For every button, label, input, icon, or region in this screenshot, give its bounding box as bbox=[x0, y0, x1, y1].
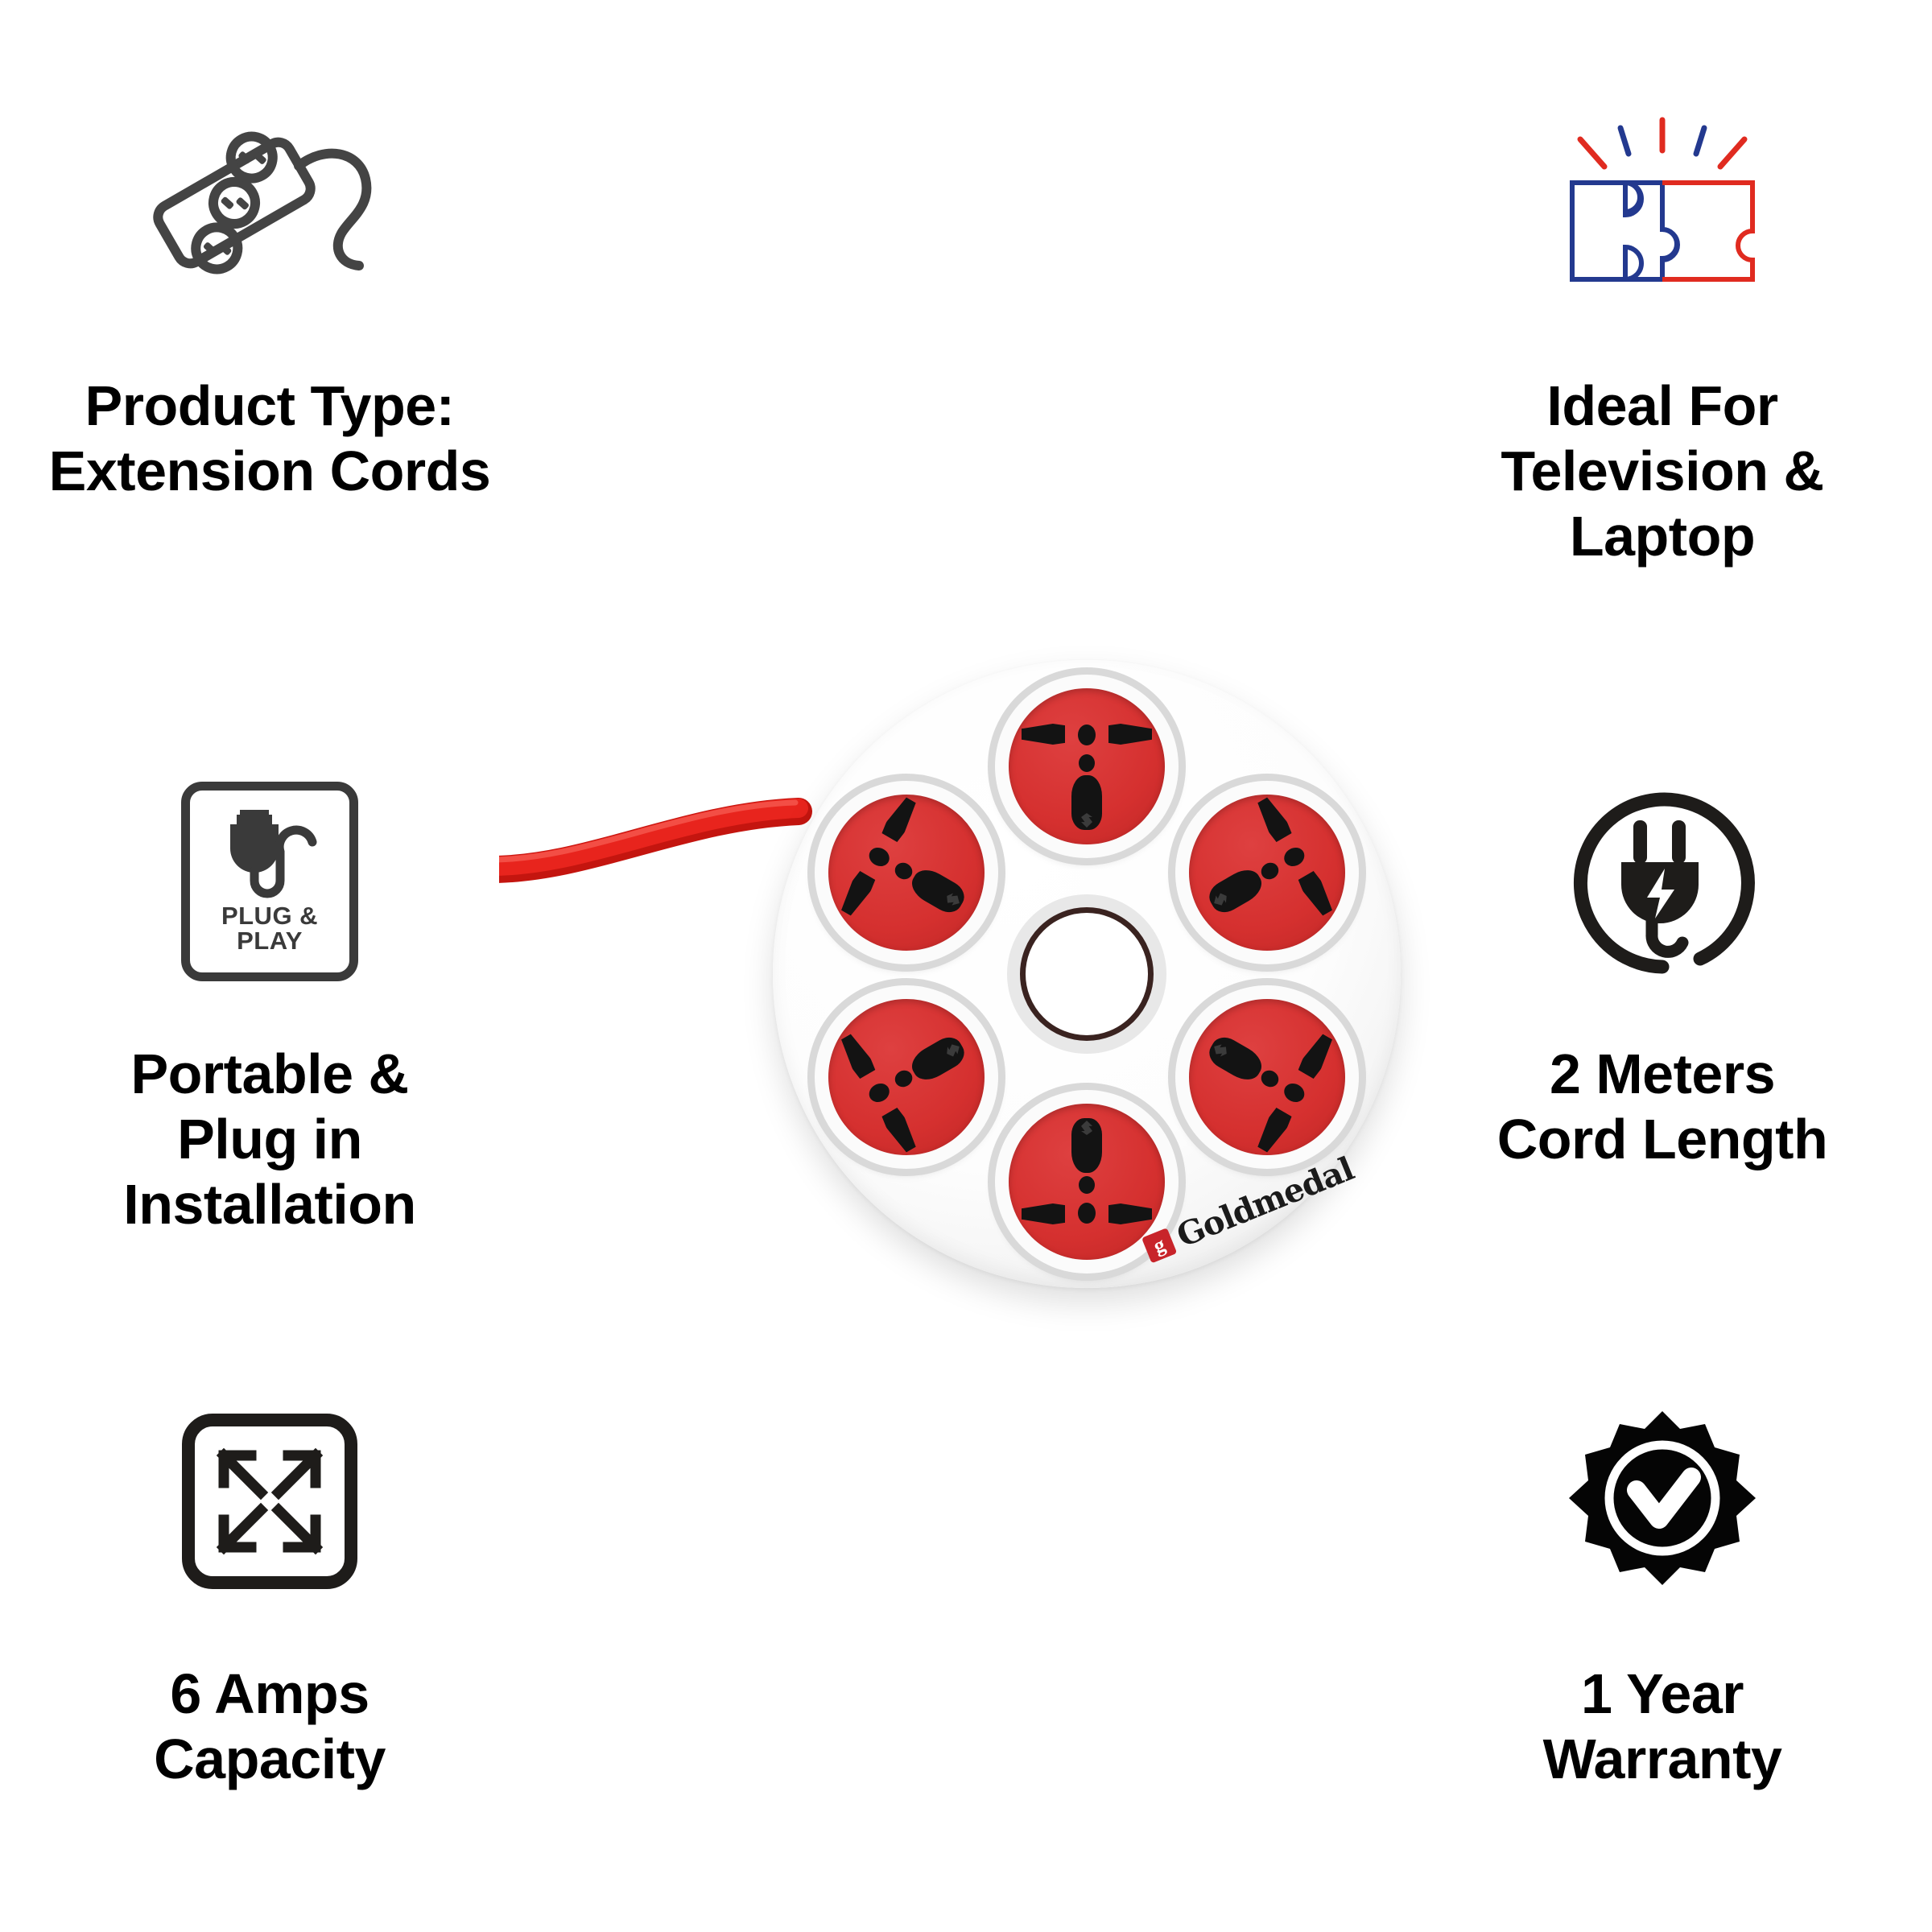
plug-in-circle-icon-wrap bbox=[1562, 749, 1763, 1014]
spark-lines bbox=[1580, 120, 1744, 167]
socket-pins bbox=[799, 766, 1013, 979]
socket-slot-left bbox=[1108, 1203, 1152, 1224]
plug-and-play-icon: PLUG & PLAY bbox=[181, 782, 358, 981]
socket-pins bbox=[1160, 766, 1373, 979]
puzzle-piece-right bbox=[1662, 183, 1752, 279]
socket-earth-hole bbox=[906, 864, 969, 918]
socket-slot-right bbox=[1022, 1203, 1065, 1224]
socket-pin-hole-2 bbox=[1079, 1176, 1095, 1194]
expand-arrows-icon bbox=[177, 1409, 362, 1594]
feature-ideal-for-caption: Ideal For Television & Laptop bbox=[1501, 374, 1823, 570]
plug-cord-glyph bbox=[209, 803, 330, 900]
power-strip-icon bbox=[153, 121, 386, 306]
socket-earth-hole bbox=[1204, 1032, 1267, 1086]
puzzle-pieces-icon-wrap bbox=[1542, 80, 1783, 346]
socket-earth-hole bbox=[1204, 864, 1267, 918]
socket-upper-right[interactable] bbox=[1175, 781, 1359, 964]
socket-upper-left[interactable] bbox=[815, 781, 998, 964]
socket-earth-hole bbox=[1071, 775, 1102, 830]
socket-lower-right[interactable] bbox=[1175, 985, 1359, 1169]
socket-slot-left bbox=[1022, 724, 1065, 745]
feature-warranty-caption: 1 Year Warranty bbox=[1543, 1662, 1782, 1792]
feature-cord-length: 2 Meters Cord Length bbox=[1413, 749, 1912, 1172]
socket-pin-hole-2 bbox=[892, 1067, 915, 1090]
socket-face bbox=[828, 999, 985, 1155]
socket-face bbox=[1189, 999, 1345, 1155]
feature-ideal-for: Ideal For Television & Laptop bbox=[1413, 80, 1912, 570]
socket-pin-hole-1 bbox=[1078, 1203, 1096, 1224]
socket-lower-left[interactable] bbox=[815, 985, 998, 1169]
feature-portable-install: PLUG & PLAY Portable & Plug in Installat… bbox=[20, 749, 519, 1238]
expand-arrows-icon-wrap bbox=[177, 1368, 362, 1634]
socket-earth-hole bbox=[1071, 1118, 1102, 1173]
socket-slot-right bbox=[1108, 724, 1152, 745]
socket-face bbox=[828, 795, 985, 951]
socket-slot-right bbox=[837, 1031, 877, 1080]
puzzle-pieces-icon bbox=[1542, 117, 1783, 310]
feature-product-type: Product Type: Extension Cords bbox=[20, 80, 519, 504]
power-strip-icon-wrap bbox=[153, 80, 386, 346]
socket-pins bbox=[799, 970, 1013, 1183]
socket-slot-left bbox=[1297, 1031, 1337, 1080]
plug-and-play-icon-wrap: PLUG & PLAY bbox=[181, 749, 358, 1014]
feature-capacity: 6 Amps Capacity bbox=[20, 1368, 519, 1792]
socket-pin-hole-1 bbox=[1281, 844, 1308, 869]
socket-pin-hole-2 bbox=[1079, 754, 1095, 772]
socket-pin-hole-1 bbox=[865, 844, 893, 869]
plug-and-play-label: PLUG & PLAY bbox=[221, 903, 318, 953]
extension-board-body: g Goldmedal bbox=[773, 660, 1401, 1288]
socket-pin-hole-1 bbox=[865, 1080, 893, 1105]
socket-pin-hole-2 bbox=[1258, 1067, 1282, 1090]
socket-pin-hole-1 bbox=[1078, 724, 1096, 745]
plug-in-circle-icon bbox=[1562, 785, 1763, 978]
feature-capacity-caption: 6 Amps Capacity bbox=[154, 1662, 386, 1792]
socket-face bbox=[1189, 795, 1345, 951]
center-indicator-ring bbox=[1020, 907, 1154, 1041]
socket-slot-right bbox=[881, 795, 921, 843]
socket-top[interactable] bbox=[995, 675, 1179, 858]
socket-slot-left bbox=[881, 1107, 921, 1155]
socket-pins bbox=[1009, 688, 1165, 844]
socket-slot-left bbox=[837, 870, 877, 919]
socket-earth-hole bbox=[906, 1032, 969, 1086]
socket-slot-right bbox=[1253, 1107, 1294, 1155]
socket-slot-left bbox=[1253, 795, 1294, 843]
feature-cord-length-caption: 2 Meters Cord Length bbox=[1497, 1042, 1828, 1172]
verified-badge-icon-wrap bbox=[1566, 1368, 1759, 1634]
socket-face bbox=[1009, 688, 1165, 844]
socket-pin-hole-2 bbox=[1258, 860, 1282, 882]
feature-product-type-caption: Product Type: Extension Cords bbox=[49, 374, 491, 504]
feature-warranty: 1 Year Warranty bbox=[1413, 1368, 1912, 1792]
product-image: g Goldmedal bbox=[499, 628, 1433, 1336]
verified-badge-icon bbox=[1566, 1405, 1759, 1598]
socket-slot-right bbox=[1297, 870, 1337, 919]
feature-portable-install-caption: Portable & Plug in Installation bbox=[123, 1042, 415, 1238]
socket-pin-hole-1 bbox=[1281, 1080, 1308, 1105]
